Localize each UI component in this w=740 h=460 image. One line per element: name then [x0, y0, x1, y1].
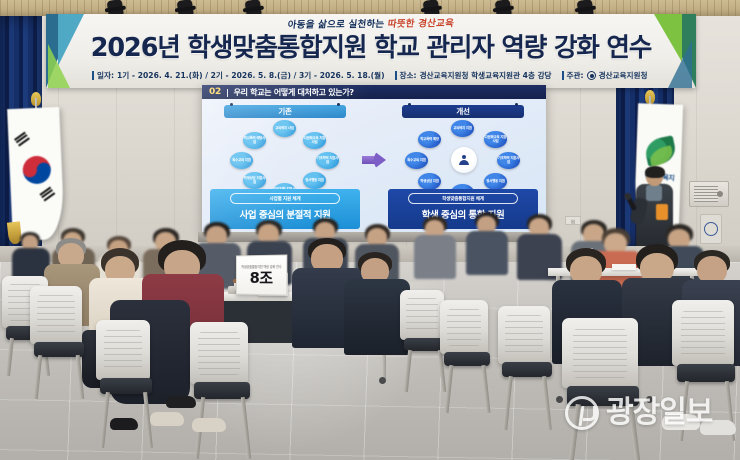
slide-title-text: 우리 학교는 어떻게 대처하고 있는가? — [234, 87, 354, 98]
projection-screen: 02 | 우리 학교는 어떻게 대처하고 있는가? 기존 교육복지 사업 다문화… — [202, 85, 546, 235]
speaker-grill-icon — [694, 186, 718, 202]
slide-panel-improved: 개선 교육복지 지원 다문화교육 지원사업 기초학력 지원사업 정서행동 지원 … — [388, 105, 538, 229]
banner-host-label: 주관: — [567, 70, 584, 81]
banner-info-row: 일자: 1기 - 2026. 4. 21.(화) / 2기 - 2026. 5.… — [92, 70, 656, 81]
diagram-node: 학교폭력 예방사업 — [243, 132, 266, 149]
volume-knob-icon — [717, 191, 723, 197]
table-group-sign: 학생맞춤통합지원 역량 강화 연수 8조 — [236, 254, 287, 295]
diagram-node: 학생상담 지원 — [418, 173, 441, 190]
diagram-node: 학교폭력 예방 — [418, 131, 441, 148]
person-icon — [451, 147, 477, 173]
banner-date-value: 1기 - 2026. 4. 21.(화) / 2기 - 2026. 5. 8.(… — [117, 70, 385, 81]
document-paper — [612, 264, 636, 270]
diagram-node: 다문화교육 지원사업 — [484, 131, 507, 148]
diagram-node: 정서행동 지원 — [484, 173, 507, 190]
trigram-icon — [14, 132, 30, 147]
node-ring-existing: 교육복지 사업 다문화교육 지원사업 기초학력 지원사업 정서행동 지원 진로진… — [228, 123, 342, 197]
presenter-shirt — [646, 185, 662, 201]
panel-footer-improved: 학생맞춤통합지원 체계 학생 중심의 통합 지원 — [388, 189, 538, 229]
chair-caster — [556, 396, 563, 403]
panel-header-improved: 개선 — [402, 105, 524, 118]
gwangjang-circle-logo-icon — [565, 396, 599, 430]
photo-scene: 아동을 삶으로 실천하는 따뜻한 경산교육 2026년 학생맞춤통합지원 학교 … — [0, 0, 740, 460]
separator-bar-icon — [395, 71, 397, 80]
separator-bar-icon — [562, 71, 564, 80]
shoe — [110, 418, 138, 430]
diagram-node: 기초학력 지원사업 — [316, 152, 339, 169]
shoe — [166, 396, 196, 408]
banner-place-value: 경산교육지원청 학생교육지원관 4층 강당 — [420, 70, 552, 81]
table-sign-group-label: 8조 — [250, 271, 273, 286]
shoe — [150, 412, 184, 426]
taeguk-symbol-icon — [22, 155, 51, 184]
trigram-icon — [39, 187, 55, 202]
presenter-hair — [645, 166, 665, 178]
slide-title-bar: 02 | 우리 학교는 어떻게 대처하고 있는가? — [202, 85, 546, 99]
table-caster — [379, 377, 386, 384]
panel-footer-pill-improved: 학생맞춤통합지원 체계 — [408, 193, 518, 204]
banner-date-segment: 일자: 1기 - 2026. 4. 21.(화) / 2기 - 2026. 5.… — [92, 70, 385, 81]
presenter-badge — [656, 204, 668, 220]
diagram-node: 정서행동 지원 — [303, 172, 326, 189]
wall-sign: 出 — [565, 216, 581, 225]
panel-footer-pill-existing: 사업별 지원 체계 — [230, 193, 340, 204]
node-ring-improved: 교육복지 지원 다문화교육 지원사업 기초학력 지원사업 정서행동 지원 진로진… — [406, 123, 520, 197]
separator-bar-icon — [92, 71, 94, 80]
wall-speaker-unit — [689, 181, 729, 207]
diagram-node: 교육복지 사업 — [273, 120, 296, 137]
event-banner: 아동을 삶으로 실천하는 따뜻한 경산교육 2026년 학생맞춤통합지원 학교 … — [46, 14, 696, 88]
banner-host-value: 경산교육지원청 — [599, 70, 648, 81]
panel-header-existing-label: 기존 — [278, 106, 291, 117]
watermark-text: 광장일보 — [606, 398, 712, 428]
diagram-node: 다문화교육 지원사업 — [303, 132, 326, 149]
panel-footer-main-improved: 학생 중심의 통합 지원 — [388, 207, 538, 221]
diagram-node: 특수교육 지원 — [405, 152, 428, 169]
diagram-node: 교육복지 지원 — [451, 120, 474, 137]
banner-place-label: 장소: — [400, 70, 417, 81]
slide-panel-existing: 기존 교육복지 사업 다문화교육 지원사업 기초학력 지원사업 정서행동 지원 … — [210, 105, 360, 229]
diagram-node: 기초학력 지원사업 — [497, 152, 520, 169]
banner-title: 2026년 학생맞춤통합지원 학교 관리자 역량 강화 연수 — [46, 27, 696, 64]
office-seal-icon — [587, 71, 596, 80]
panel-header-improved-label: 개선 — [456, 106, 469, 117]
panel-footer-existing: 사업별 지원 체계 사업 중심의 분절적 지원 — [210, 189, 360, 229]
banner-host-segment: 주관: 경산교육지원청 — [562, 70, 648, 81]
wall-emblem-icon — [704, 222, 718, 236]
panel-header-existing: 기존 — [224, 105, 346, 118]
panel-footer-main-existing: 사업 중심의 분절적 지원 — [210, 207, 360, 221]
slide-number: 02 — [209, 87, 221, 97]
watermark: 광장일보 — [565, 396, 712, 430]
diagram-node: 학생상담 지원사업 — [243, 172, 266, 189]
right-arrow-icon — [362, 151, 386, 169]
diagram-node: 특수교육 지원 — [230, 152, 253, 169]
slide-title-separator: | — [226, 88, 229, 97]
banner-place-segment: 장소: 경산교육지원청 학생교육지원관 4층 강당 — [395, 70, 552, 81]
shoe — [192, 418, 226, 432]
banner-date-label: 일자: — [97, 70, 114, 81]
